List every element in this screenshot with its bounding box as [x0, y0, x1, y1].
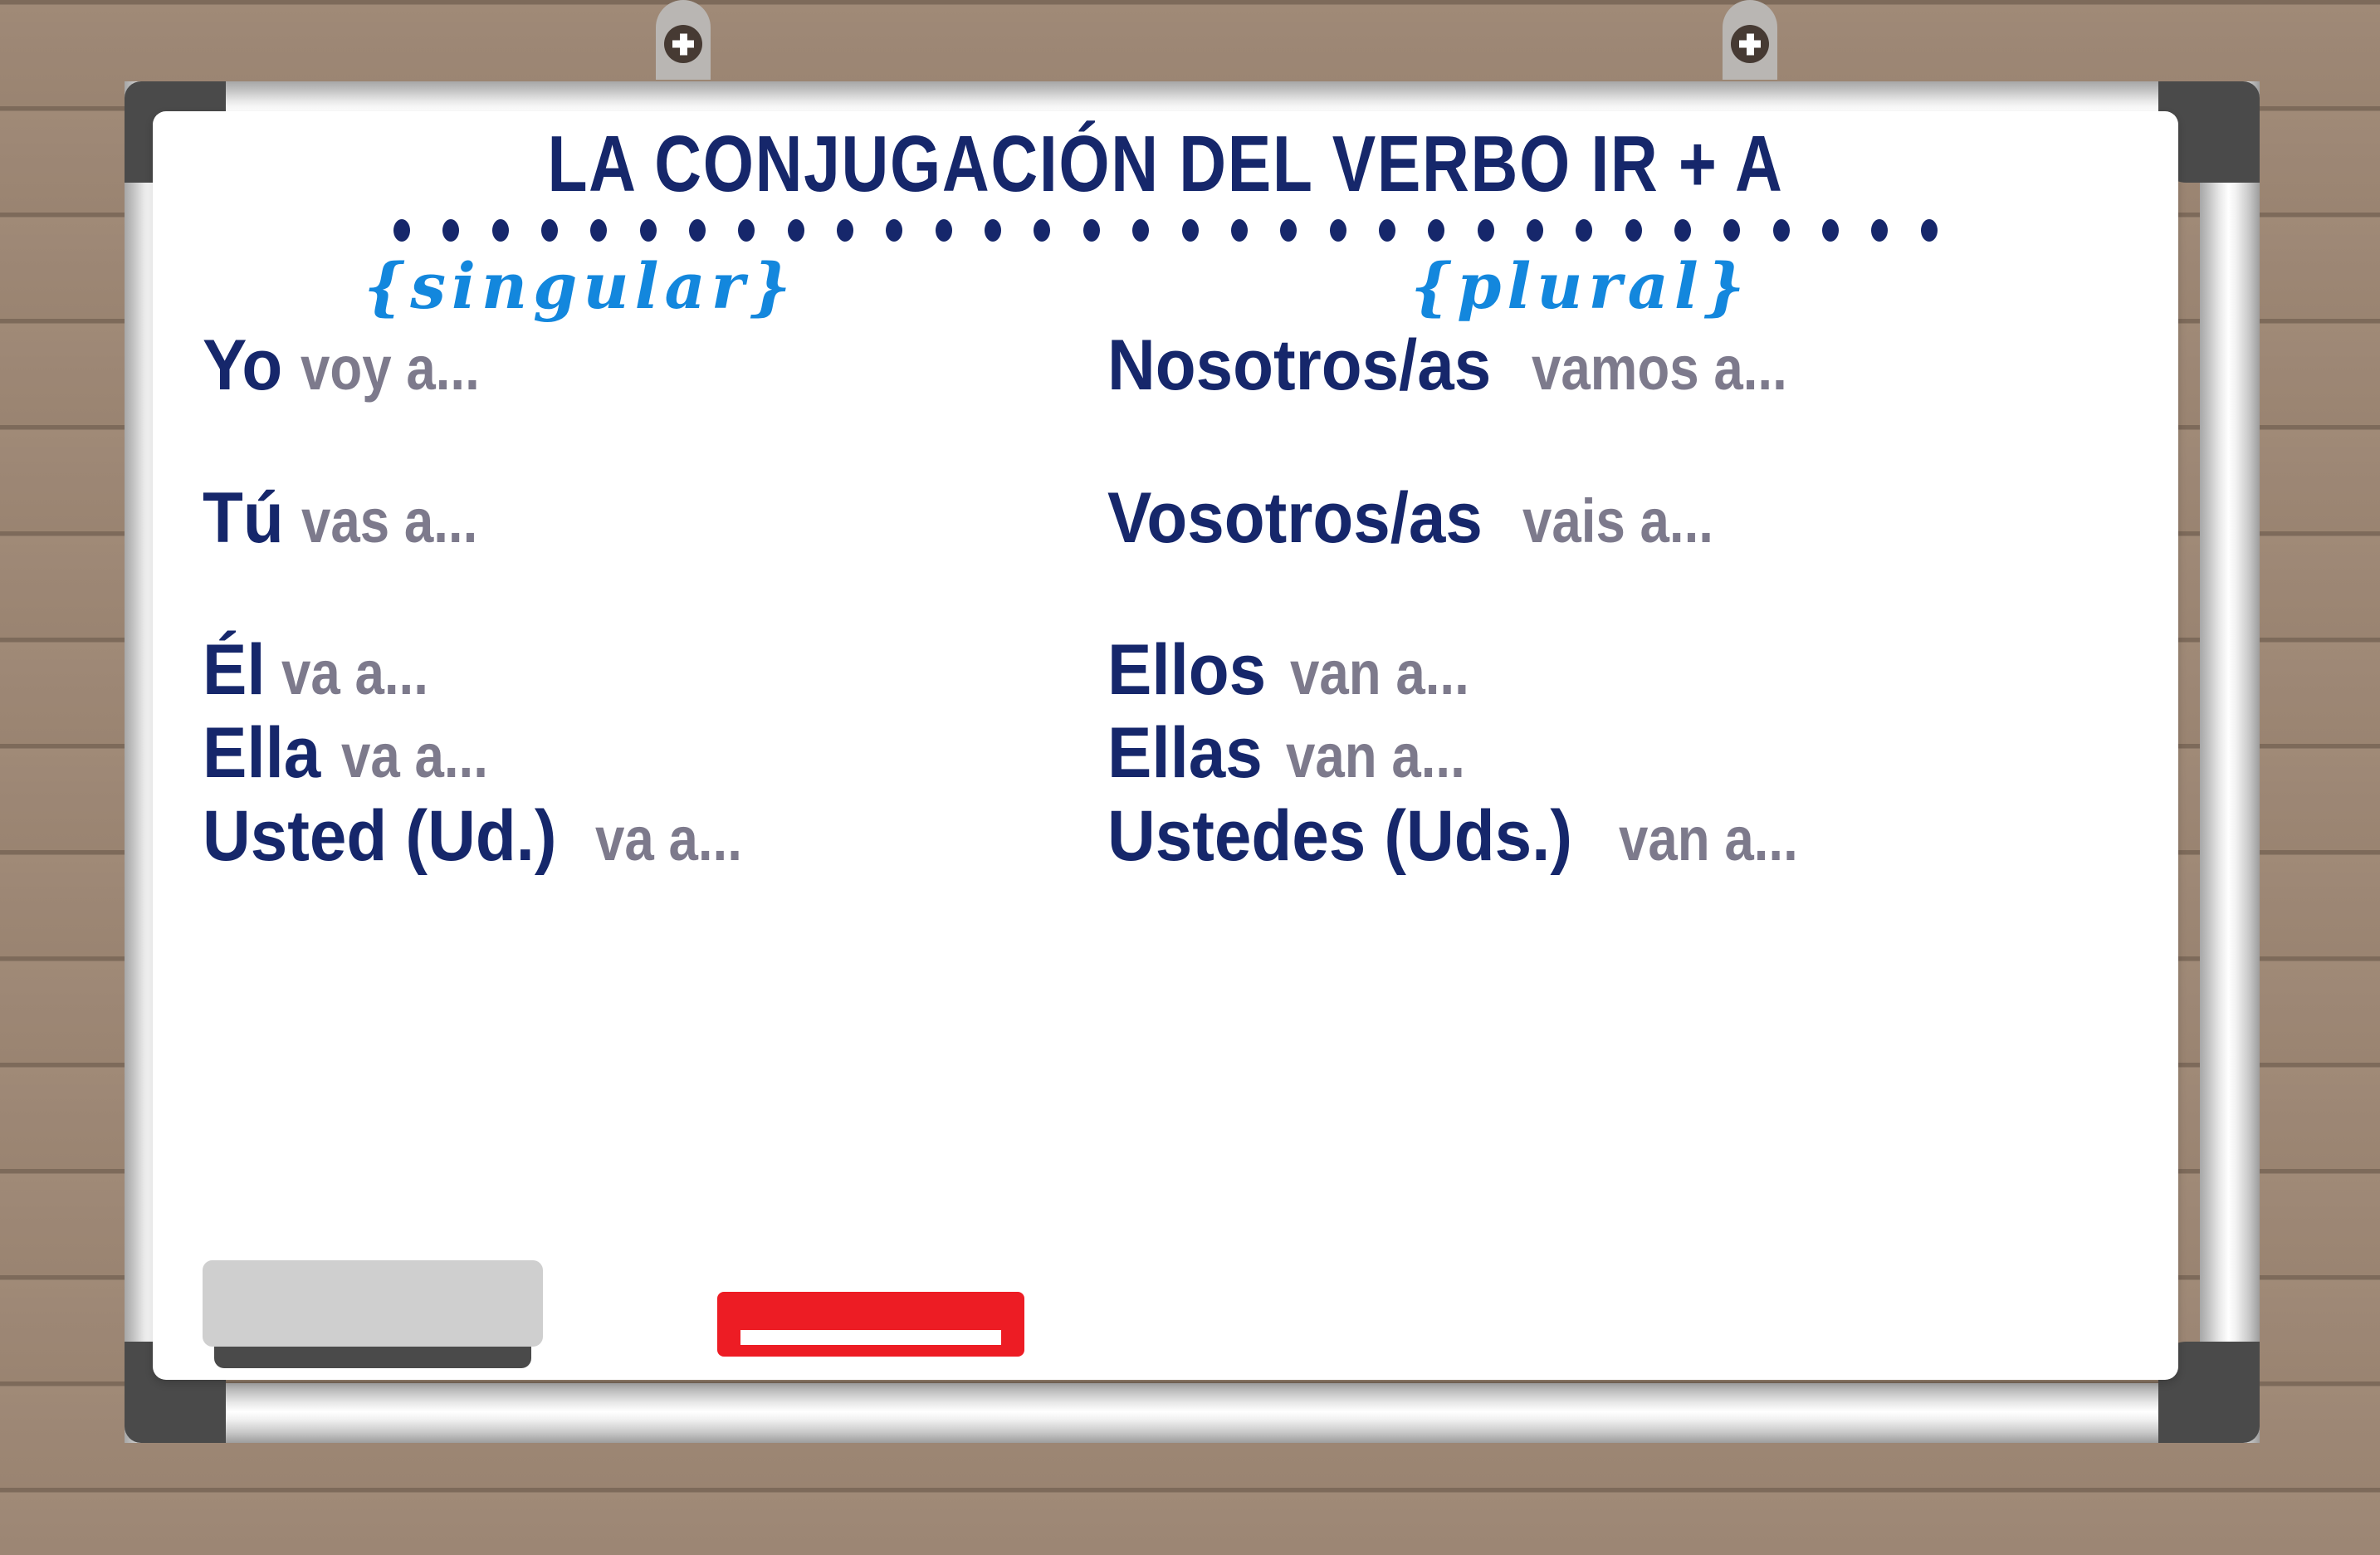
pronoun-ella: Ella: [203, 717, 320, 790]
divider-dot: [1083, 219, 1100, 242]
verb-ellas: van a...: [1286, 725, 1465, 787]
conjugation-row-ella: Ellava a...: [203, 717, 1107, 790]
wall-mount-left: [656, 0, 711, 80]
divider-dot: [1723, 219, 1740, 242]
divider-dot: [1132, 219, 1149, 242]
divider-dot: [1773, 219, 1790, 242]
verb-tu: vas a...: [301, 490, 477, 552]
conjugation-row-usted: Usted (Ud.)va a...: [203, 800, 1107, 873]
divider-dot: [1527, 219, 1543, 242]
row-gap: [203, 403, 1107, 482]
conjugation-row-yo: Yovoy a...: [203, 330, 1107, 403]
verb-el: va a...: [281, 642, 428, 704]
conjugation-row-vosotros: Vosotros/asvais a...: [1107, 482, 2178, 555]
siding-plank: [0, 1488, 2380, 1555]
divider-dot: [1428, 219, 1444, 242]
eraser-body: [203, 1260, 543, 1347]
whiteboard-surface: LA CONJUGACIÓN DEL VERBO IR + A {singula…: [153, 111, 2178, 1380]
row-gap: [1107, 403, 2178, 482]
pronoun-usted: Usted (Ud.): [203, 800, 557, 873]
verb-ellos: van a...: [1290, 642, 1469, 704]
conjugation-columns: {singular} Yovoy a... Túvas a... Élva a.…: [153, 253, 2178, 873]
row-gap: [203, 707, 1107, 717]
row-gap: [1107, 707, 2178, 717]
column-heading-singular: {singular}: [203, 253, 1107, 320]
conjugation-row-ellas: Ellasvan a...: [1107, 717, 2178, 790]
divider-dot: [738, 219, 755, 242]
pronoun-nosotros: Nosotros/as: [1107, 330, 1491, 403]
pronoun-el: Él: [203, 634, 266, 707]
column-heading-plural: {plural}: [1107, 253, 2178, 320]
divider-dot: [1871, 219, 1888, 242]
divider-dot: [1674, 219, 1691, 242]
phillips-screw-icon: [1731, 25, 1769, 63]
divider-dot: [1822, 219, 1839, 242]
divider-dot: [1576, 219, 1592, 242]
divider-dot: [393, 219, 410, 242]
whiteboard-eraser[interactable]: [203, 1260, 543, 1368]
divider-dot: [985, 219, 1001, 242]
verb-usted: va a...: [595, 808, 742, 870]
wall-background: LA CONJUGACIÓN DEL VERBO IR + A {singula…: [0, 0, 2380, 1555]
divider-dot: [541, 219, 558, 242]
frame-rail-bottom: [125, 1383, 2260, 1443]
frame-rail-right: [2200, 81, 2260, 1443]
pronoun-vosotros: Vosotros/as: [1107, 482, 1483, 555]
conjugation-row-ustedes: Ustedes (Uds.)van a...: [1107, 800, 2178, 873]
pronoun-tu: Tú: [203, 482, 284, 555]
divider-dot: [689, 219, 706, 242]
divider-dot: [1034, 219, 1050, 242]
pronoun-yo: Yo: [203, 330, 282, 403]
wall-mount-right: [1723, 0, 1777, 80]
divider-dot: [640, 219, 657, 242]
verb-yo: voy a...: [301, 337, 480, 399]
red-dry-erase-marker[interactable]: [717, 1292, 1024, 1357]
column-singular: {singular} Yovoy a... Túvas a... Élva a.…: [203, 253, 1107, 873]
column-plural: {plural} Nosotros/asvamos a... Vosotros/…: [1107, 253, 2178, 873]
page-title: LA CONJUGACIÓN DEL VERBO IR + A: [335, 125, 1996, 204]
pronoun-ellas: Ellas: [1107, 717, 1263, 790]
row-gap: [203, 555, 1107, 634]
marker-stripe: [740, 1330, 1001, 1345]
divider-dot: [492, 219, 509, 242]
verb-vosotros: vais a...: [1522, 490, 1713, 552]
divider-dot: [837, 219, 853, 242]
row-gap: [1107, 555, 2178, 634]
divider-dot: [788, 219, 804, 242]
whiteboard: LA CONJUGACIÓN DEL VERBO IR + A {singula…: [125, 81, 2260, 1443]
conjugation-row-nosotros: Nosotros/asvamos a...: [1107, 330, 2178, 403]
divider-dot: [590, 219, 607, 242]
divider-dot: [1231, 219, 1248, 242]
verb-nosotros: vamos a...: [1532, 337, 1787, 399]
verb-ustedes: van a...: [1619, 808, 1798, 870]
pronoun-ellos: Ellos: [1107, 634, 1266, 707]
divider-dot: [1625, 219, 1642, 242]
divider-dot: [442, 219, 459, 242]
divider-dot: [936, 219, 952, 242]
divider-dot: [1921, 219, 1938, 242]
conjugation-row-el: Élva a...: [203, 634, 1107, 707]
divider-dot: [1280, 219, 1297, 242]
divider-dot: [1330, 219, 1346, 242]
divider-dot: [886, 219, 902, 242]
dotted-divider: [393, 219, 1938, 242]
pronoun-ustedes: Ustedes (Uds.): [1107, 800, 1572, 873]
verb-ella: va a...: [341, 725, 488, 787]
divider-dot: [1182, 219, 1199, 242]
divider-dot: [1478, 219, 1494, 242]
conjugation-row-ellos: Ellosvan a...: [1107, 634, 2178, 707]
divider-dot: [1379, 219, 1395, 242]
phillips-screw-icon: [664, 25, 702, 63]
conjugation-row-tu: Túvas a...: [203, 482, 1107, 555]
